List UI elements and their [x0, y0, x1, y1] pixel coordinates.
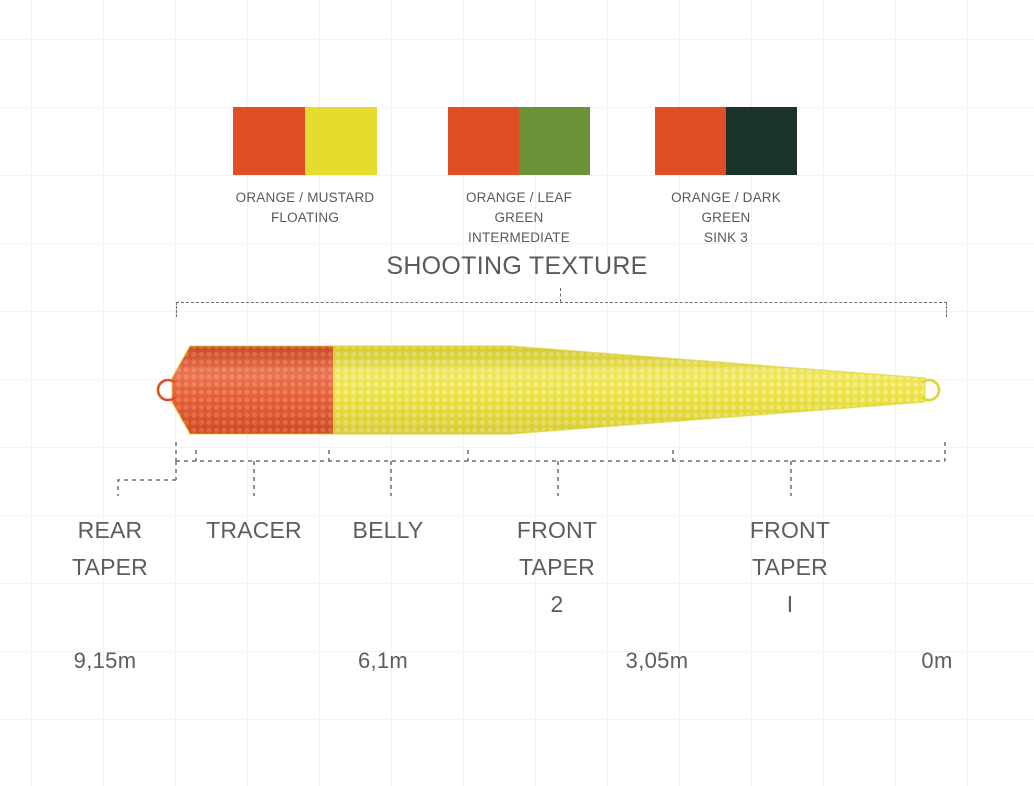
- shooting-texture-bracket: [176, 302, 947, 317]
- segment-bracket: [0, 440, 1034, 510]
- fly-line-taper-diagram: ORANGE / MUSTARD FLOATING ORANGE / LEAF …: [0, 0, 1034, 786]
- shooting-texture-title: SHOOTING TEXTURE: [0, 252, 1034, 281]
- distance-label-1: 6,1m: [283, 648, 483, 674]
- swatch-pair: [655, 107, 797, 175]
- segment-label-front-taper-2-line3: 2: [457, 586, 657, 623]
- distance-label-0: 9,15m: [5, 648, 205, 674]
- swatch-pair: [448, 107, 590, 175]
- legend-caption-0: ORANGE / MUSTARD FLOATING: [233, 188, 377, 228]
- legend-caption-1: ORANGE / LEAF GREEN INTERMEDIATE: [448, 188, 590, 248]
- swatch-right-0: [305, 107, 377, 175]
- legend-density-0: FLOATING: [233, 208, 377, 228]
- distance-label-2: 3,05m: [557, 648, 757, 674]
- shooting-texture-leader-stem: [560, 288, 561, 302]
- legend-colorname-1: ORANGE / LEAF GREEN: [448, 188, 590, 228]
- segment-label-front-taper-2-line1: FRONT: [457, 512, 657, 549]
- fly-line-graphic: [0, 320, 1034, 460]
- legend-caption-2: ORANGE / DARK GREEN SINK 3: [655, 188, 797, 248]
- swatch-pair: [233, 107, 377, 175]
- legend-colorname-0: ORANGE / MUSTARD: [233, 188, 377, 208]
- leader-rear-elbow: [118, 480, 176, 496]
- segment-label-front-taper-1-line1: FRONT: [690, 512, 890, 549]
- segment-label-rear-taper-line2: TAPER: [10, 549, 210, 586]
- legend-colorname-2: ORANGE / DARK GREEN: [655, 188, 797, 228]
- fly-line-orange-section: [0, 320, 1034, 460]
- swatch-left-0: [233, 107, 305, 175]
- swatch-left-1: [448, 107, 519, 175]
- legend-item-1[interactable]: ORANGE / LEAF GREEN INTERMEDIATE: [448, 107, 590, 248]
- color-legend: ORANGE / MUSTARD FLOATING ORANGE / LEAF …: [0, 107, 1034, 237]
- segment-label-front-taper-1: FRONT TAPER I: [690, 512, 890, 623]
- segment-label-front-taper-2-line2: TAPER: [457, 549, 657, 586]
- swatch-left-2: [655, 107, 726, 175]
- legend-item-0[interactable]: ORANGE / MUSTARD FLOATING: [233, 107, 377, 228]
- legend-density-1: INTERMEDIATE: [448, 228, 590, 248]
- swatch-right-2: [726, 107, 797, 175]
- segment-label-front-taper-1-line3: I: [690, 586, 890, 623]
- swatch-right-1: [519, 107, 590, 175]
- legend-density-2: SINK 3: [655, 228, 797, 248]
- legend-item-2[interactable]: ORANGE / DARK GREEN SINK 3: [655, 107, 797, 248]
- segment-label-front-taper-2: FRONT TAPER 2: [457, 512, 657, 623]
- distance-label-3: 0m: [837, 648, 1034, 674]
- segment-label-front-taper-1-line2: TAPER: [690, 549, 890, 586]
